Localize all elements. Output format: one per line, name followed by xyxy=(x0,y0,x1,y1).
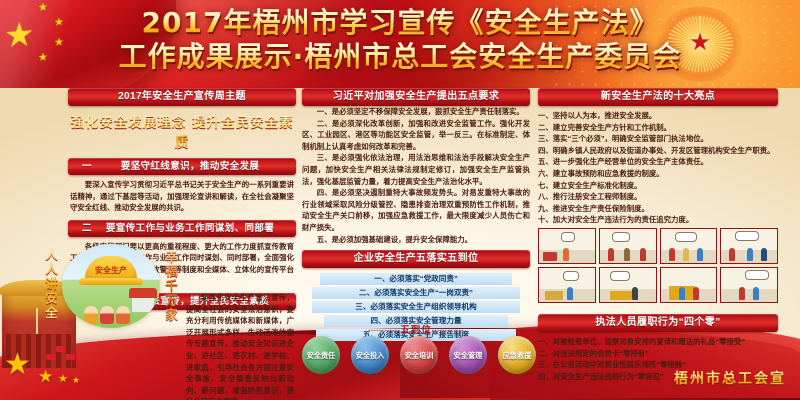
safety-family-illustration-icon: 安全生产 xyxy=(62,244,160,328)
daowei-circle-label-2: 安全投入 xyxy=(356,351,385,360)
title-line-1: 2017年梧州市学习宣传《安全生产法》 xyxy=(0,6,800,40)
four-zeros-item-1: 一、对被检查单位、监察对象安排的宴请和赠送的礼品“零接受” xyxy=(538,336,778,348)
gold-star-icon-2: ★ xyxy=(38,368,53,385)
safety-comic-panel-4 xyxy=(720,228,778,264)
highlight-item-5: 五、进一步强化生产经营单位的安全生产主体责任。 xyxy=(538,156,778,168)
highlight-item-10: 十、加大对安全生产违法行为的责任追究力度。 xyxy=(538,214,778,226)
five-daowei-label: 五到位 xyxy=(400,325,432,336)
daowei-circle-group: 安全责任 安全投入 安全培训 安全管理 应急救援 xyxy=(302,336,536,374)
right-banner-2: 执法人员履职行为“四个零” xyxy=(538,314,778,332)
middle-column: 习近平对加强安全生产提出五点要求 一、是必须坚定不移保障安全发展，狠抓安全生产责… xyxy=(302,88,530,343)
left-section-heading-2: 二 要宣传工作与业务工作同谋划、同部署 xyxy=(68,220,296,237)
daowei-circle-label-3: 安全培训 xyxy=(405,351,434,360)
highlight-item-6: 六、建立事故预防和应急救援的制度。 xyxy=(538,168,778,180)
child-figure-3 xyxy=(116,306,130,324)
daowei-circle-3[interactable]: 安全培训 xyxy=(400,336,438,374)
small-flag-icon-1 xyxy=(56,346,65,352)
theme-banner: 2017年安全生产宣传周主题 xyxy=(68,88,296,106)
highlight-item-2: 二、建立完善安全生产方针和工作机制。 xyxy=(538,122,778,134)
safety-comic-strip xyxy=(538,228,778,303)
requirement-item-1: 一、是必须坚定不移保障安全发展，狠抓安全生产责任制落实。 xyxy=(302,106,530,118)
title-line-2: 工作成果展示·梧州市总工会安全生产委员会 xyxy=(0,40,800,74)
luoshi-item-1: 一、必须落实“党政同责” xyxy=(320,273,512,285)
house-icon xyxy=(132,296,154,312)
dots-right: ············ xyxy=(432,326,464,335)
requirement-item-5: 五、是必须加强基础建设，提升安全保障能力。 xyxy=(302,234,530,246)
theme-slogan: 强化安全发展理念 提升全民安全素质 xyxy=(68,111,296,151)
ten-highlights-list: 一、坚持以人为本，推进安全发展。 二、建立完善安全生产方针和工作机制。 三、落实… xyxy=(538,110,778,226)
daowei-circle-4[interactable]: 安全管理 xyxy=(449,336,487,374)
section-title-2: 要宣传工作与业务工作同谋划、同部署 xyxy=(90,220,274,237)
middle-banner-1: 习近平对加强安全生产提出五点要求 xyxy=(302,88,530,106)
luoshi-item-2: 二、必须落实安全生产“一岗双责” xyxy=(312,287,520,299)
requirement-item-4: 四、是必须坚决遏制重特大事故频发势头。对易发重特大事故的行业领域采取风险分级管控… xyxy=(302,187,530,233)
right-column: 新安全生产法的十大亮点 一、坚持以人为本，推进安全发展。 二、建立完善安全生产方… xyxy=(538,88,778,226)
highlight-item-8: 八、推行注册安全工程师制度。 xyxy=(538,191,778,203)
vertical-slogan-right: 幸福千万家 xyxy=(164,250,180,323)
requirement-item-2: 二、是必须深化改革创新，加强和改进安全监管工作。强化开发区、工业园区、港区等功能… xyxy=(302,118,530,153)
safety-comic-panel-6 xyxy=(599,267,657,303)
requirement-item-3: 三、是必须强化依法治理，用法治思维和法治手段解决安全生产问题，加快安全生产相关法… xyxy=(302,152,530,187)
highlight-item-1: 一、坚持以人为本，推进安全发展。 xyxy=(538,110,778,122)
safety-comic-panel-5 xyxy=(538,267,596,303)
poster-header: ★ ★ ★ ★ ★ ★ 2017年梧州市学习宣传《安全生产法》 工作成果展示·梧… xyxy=(0,0,800,88)
safety-comic-panel-3 xyxy=(660,228,718,264)
small-flag-icon-2 xyxy=(66,354,75,360)
child-figure-2 xyxy=(100,306,114,324)
highlight-item-9: 九、推进安全生产责任保险制度。 xyxy=(538,203,778,215)
daowei-circle-label-5: 应急救援 xyxy=(503,351,532,360)
daowei-circle-2[interactable]: 安全投入 xyxy=(351,336,389,374)
middle-banner-2: 企业安全生产五落实五到位 xyxy=(302,250,530,268)
highlight-item-7: 七、建立安全生产标准化制度。 xyxy=(538,180,778,192)
safety-poster: ★ ★ ★ ★ ★ ★ 2017年梧州市学习宣传《安全生产法》 工作成果展示·梧… xyxy=(0,0,800,400)
luoshi-item-3: 三、必须落实安全生产组织领导机构 xyxy=(312,301,520,313)
flag-pole-icon xyxy=(36,308,38,334)
gold-star-icon-4: ★ xyxy=(72,376,80,385)
left-section-heading-1: 一 要坚守红线意识，推动安全发展 xyxy=(68,158,296,175)
left-section-body-3: 要强化安全生产普法宣传，提高全社会的安全法治意识，要充分利用传统媒体和新媒体，广… xyxy=(186,292,294,400)
left-section-body-1: 要深入宣传学习贯彻习近平总书记关于安全生产的一系列重要讲话精神，通过下基层等活动… xyxy=(70,179,294,214)
section-number-2: 二 xyxy=(82,220,92,237)
child-figure-1 xyxy=(84,306,98,324)
safety-comic-panel-1 xyxy=(538,228,596,264)
gold-star-icon-1: ★ xyxy=(4,350,31,380)
right-banner-1: 新安全生产法的十大亮点 xyxy=(538,88,778,106)
safety-helmet-icon: 安全生产 xyxy=(85,256,137,282)
daowei-circle-label-4: 安全管理 xyxy=(454,351,483,360)
section-title-1: 要坚守红线意识，推动安全发展 xyxy=(105,158,260,175)
safety-comic-panel-7 xyxy=(660,267,718,303)
poster-title: 2017年梧州市学习宣传《安全生产法》 工作成果展示·梧州市总工会安全生产委员会 xyxy=(0,6,800,74)
daowei-circle-5[interactable]: 应急救援 xyxy=(498,336,536,374)
vertical-slogan-left: 人人讲安全 xyxy=(44,248,60,321)
highlight-item-4: 四、明确乡镇人民政府以及街道办事处、开发区管理机构安全生产职责。 xyxy=(538,145,778,157)
small-flag-icon-3 xyxy=(46,354,55,360)
gold-star-icon-3: ★ xyxy=(58,374,68,385)
highlight-item-3: 三、落实“三个必须”，明确安全监管部门执法地位。 xyxy=(538,133,778,145)
five-requirements-list: 一、是必须坚定不移保障安全发展，狠抓安全生产责任制落实。 二、是必须深化改革创新… xyxy=(302,106,530,245)
daowei-circle-1[interactable]: 安全责任 xyxy=(302,336,340,374)
five-daowei-label-row: ············五到位············ xyxy=(302,322,530,336)
dots-left: ············ xyxy=(368,326,400,335)
four-zeros-item-2: 二、对违法规定的会员卡“零持有” xyxy=(538,348,778,360)
safety-comic-panel-2 xyxy=(599,228,657,264)
section-number-1: 一 xyxy=(82,158,92,175)
footer-signature: 梧州市总工会宣 xyxy=(674,368,786,388)
daowei-circle-label-1: 安全责任 xyxy=(307,351,336,360)
safety-comic-panel-8 xyxy=(720,267,778,303)
